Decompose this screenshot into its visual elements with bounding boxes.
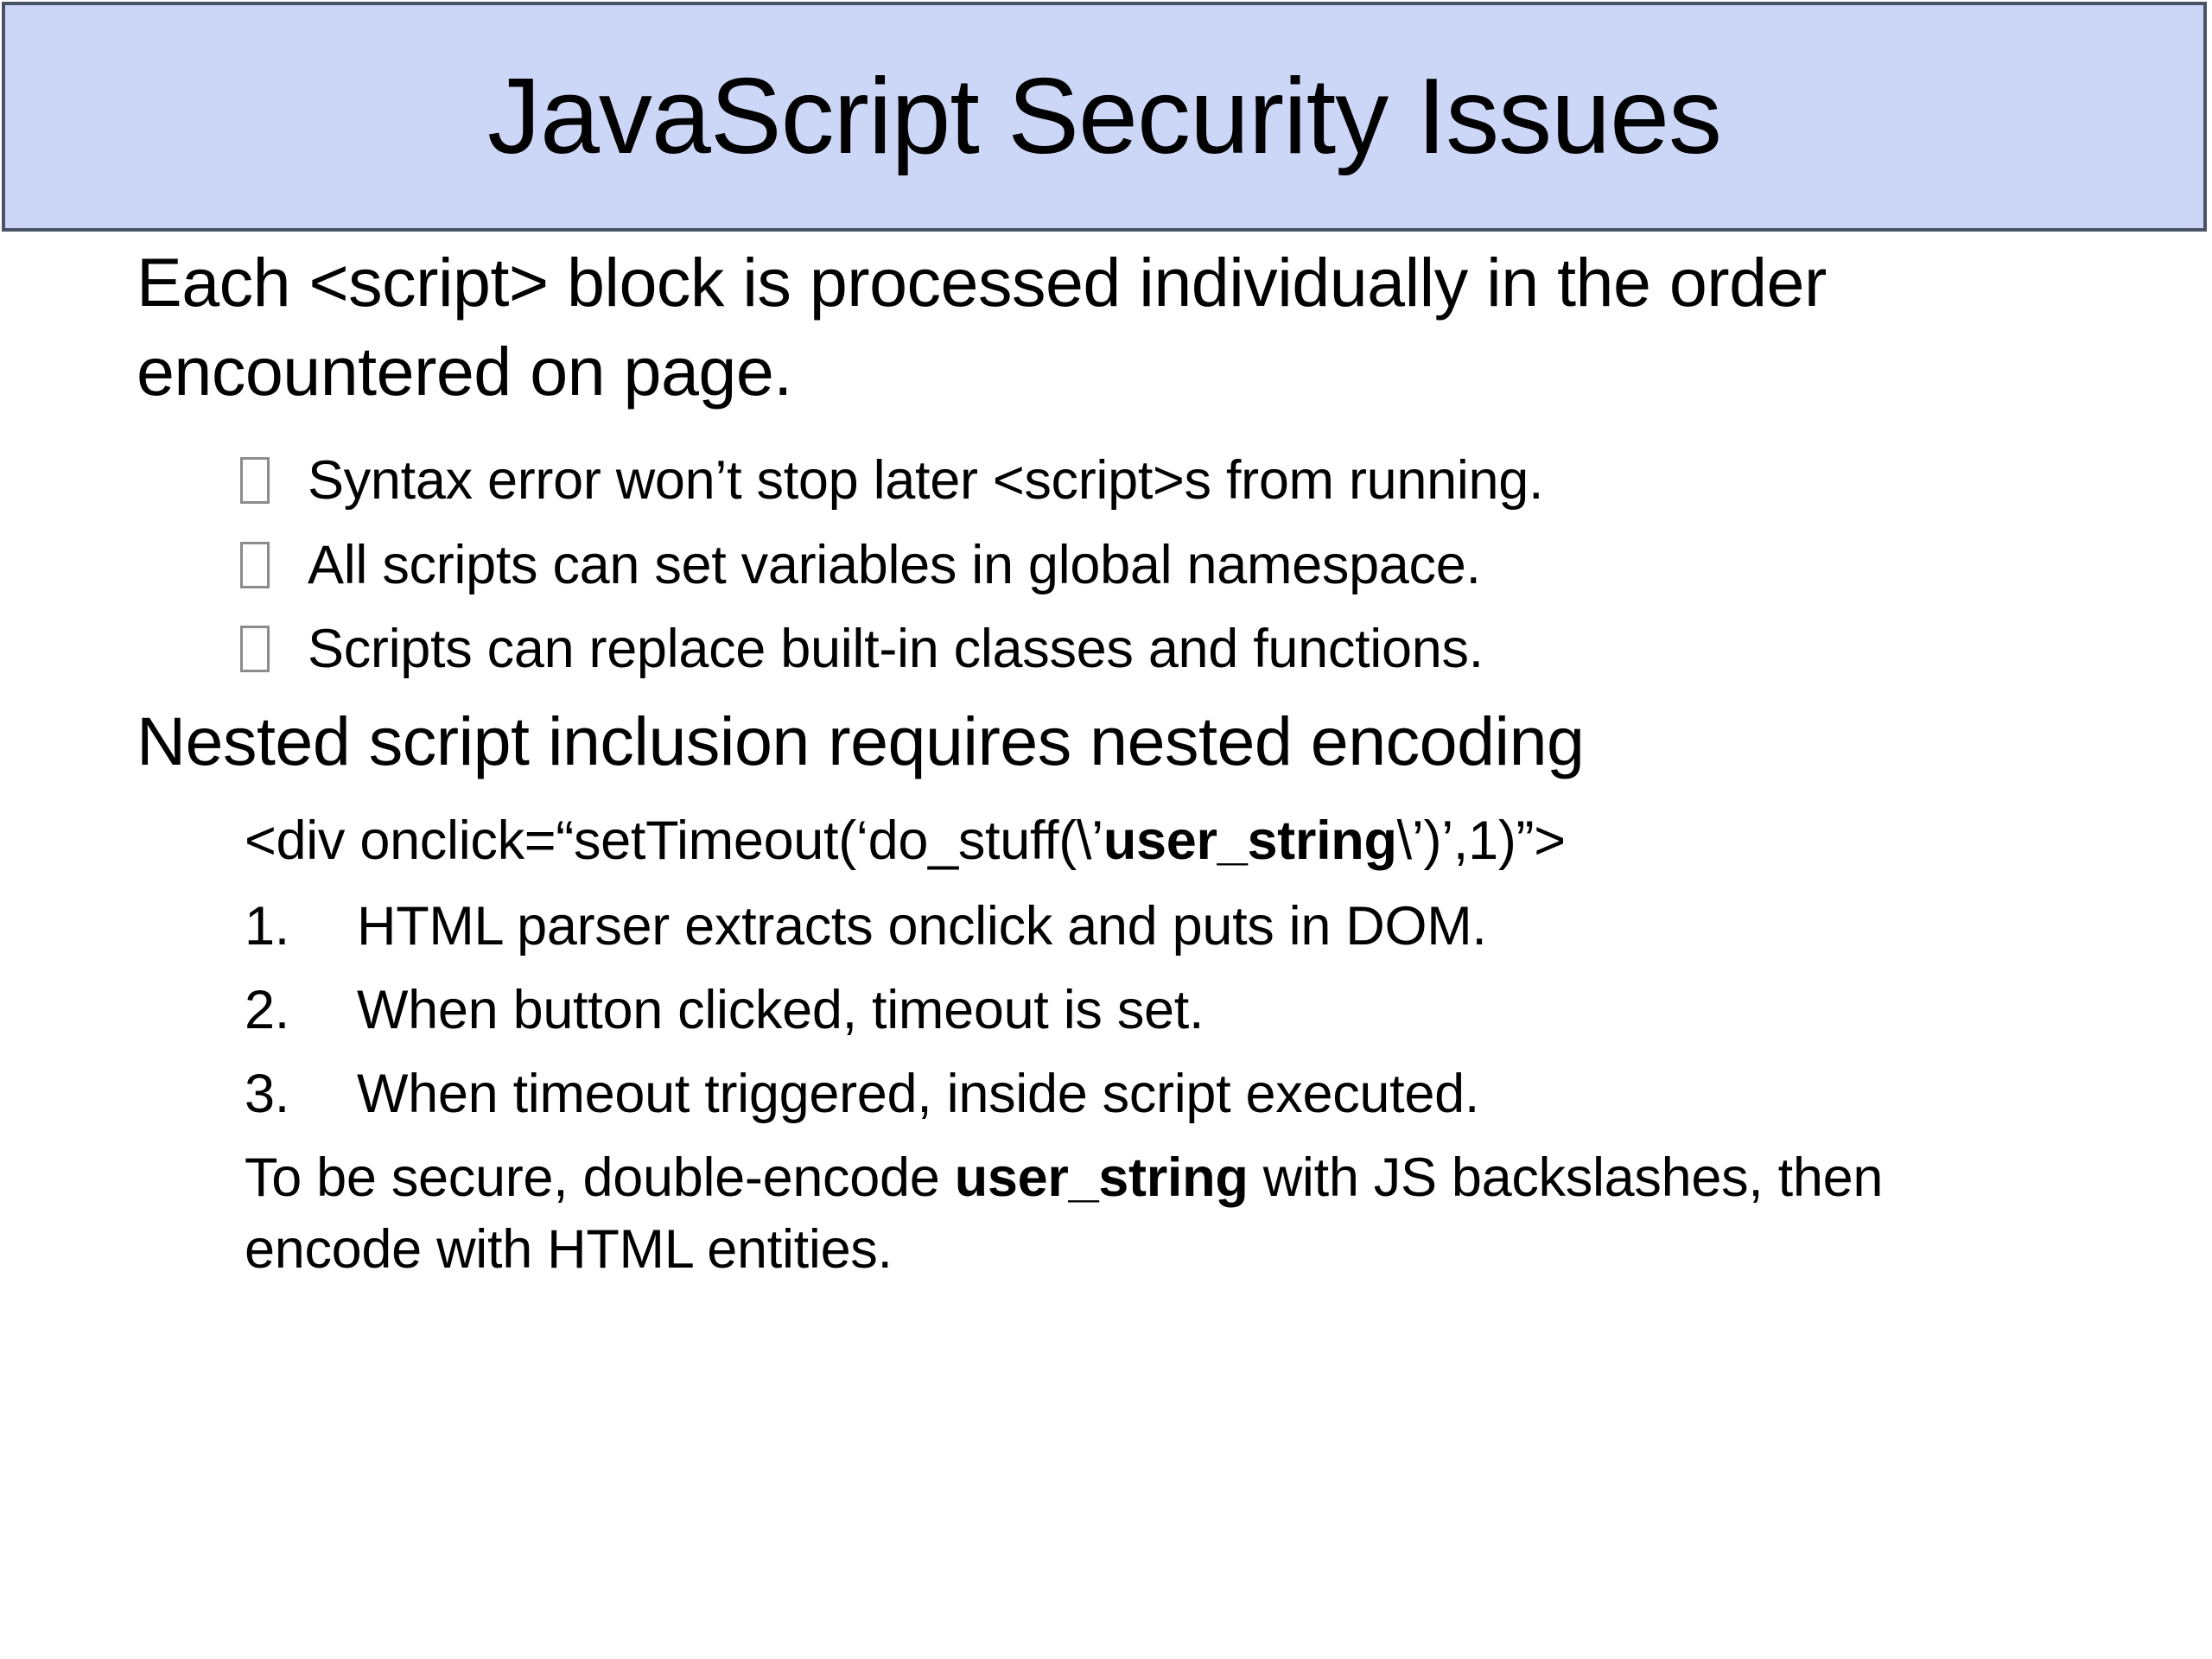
second-heading: Nested script inclusion requires nested … xyxy=(0,697,2212,786)
step-label: When timeout triggered, inside script ex… xyxy=(357,1058,2212,1130)
code-highlight: user_string xyxy=(1103,810,1397,871)
step-label: HTML parser extracts onclick and puts in… xyxy=(357,891,2212,963)
slide-title-bar: JavaScript Security Issues xyxy=(2,2,2207,232)
spacer xyxy=(0,416,2212,445)
closing-highlight: user_string xyxy=(955,1147,1249,1208)
numbered-step: 1. HTML parser extracts onclick and puts… xyxy=(0,891,2212,963)
step-marker: 1. xyxy=(245,891,357,963)
code-suffix: \’)’,1)”> xyxy=(1397,810,1566,871)
spacer xyxy=(0,877,2212,891)
list-item-label: Syntax error won’t stop later <script>s … xyxy=(308,445,1543,517)
numbered-step: 3. When timeout triggered, inside script… xyxy=(0,1058,2212,1130)
intro-paragraph: Each <script> block is processed individ… xyxy=(0,238,2212,416)
list-item: Syntax error won’t stop later <script>s … xyxy=(0,445,2212,517)
step-marker: 2. xyxy=(245,975,357,1046)
list-item: Scripts can replace built-in classes and… xyxy=(0,613,2212,685)
tofu-bullet-icon xyxy=(240,457,270,504)
code-example-line: <div onclick=“setTimeout(‘do_stuff(\’use… xyxy=(0,805,2212,877)
tofu-bullet-icon xyxy=(240,542,270,588)
tofu-bullet-icon xyxy=(240,626,270,672)
closing-paragraph: To be secure, double-encode user_string … xyxy=(0,1142,2212,1286)
spacer xyxy=(0,1046,2212,1058)
page-title: JavaScript Security Issues xyxy=(487,63,1721,170)
spacer xyxy=(0,685,2212,697)
list-item-label: All scripts can set variables in global … xyxy=(308,530,1481,601)
numbered-step: 2. When button clicked, timeout is set. xyxy=(0,975,2212,1046)
closing-prefix: To be secure, double-encode xyxy=(245,1147,955,1208)
code-prefix: <div onclick=“setTimeout(‘do_stuff(\’ xyxy=(245,810,1103,871)
spacer xyxy=(0,1130,2212,1142)
spacer xyxy=(0,963,2212,975)
step-marker: 3. xyxy=(245,1058,357,1130)
spacer xyxy=(0,786,2212,805)
sub-bullet-list: Syntax error won’t stop later <script>s … xyxy=(0,445,2212,684)
list-item-label: Scripts can replace built-in classes and… xyxy=(308,613,1484,685)
spacer xyxy=(0,518,2212,530)
slide-body: Each <script> block is processed individ… xyxy=(0,238,2212,1286)
list-item: All scripts can set variables in global … xyxy=(0,530,2212,601)
spacer xyxy=(0,601,2212,613)
step-label: When button clicked, timeout is set. xyxy=(357,975,2212,1046)
